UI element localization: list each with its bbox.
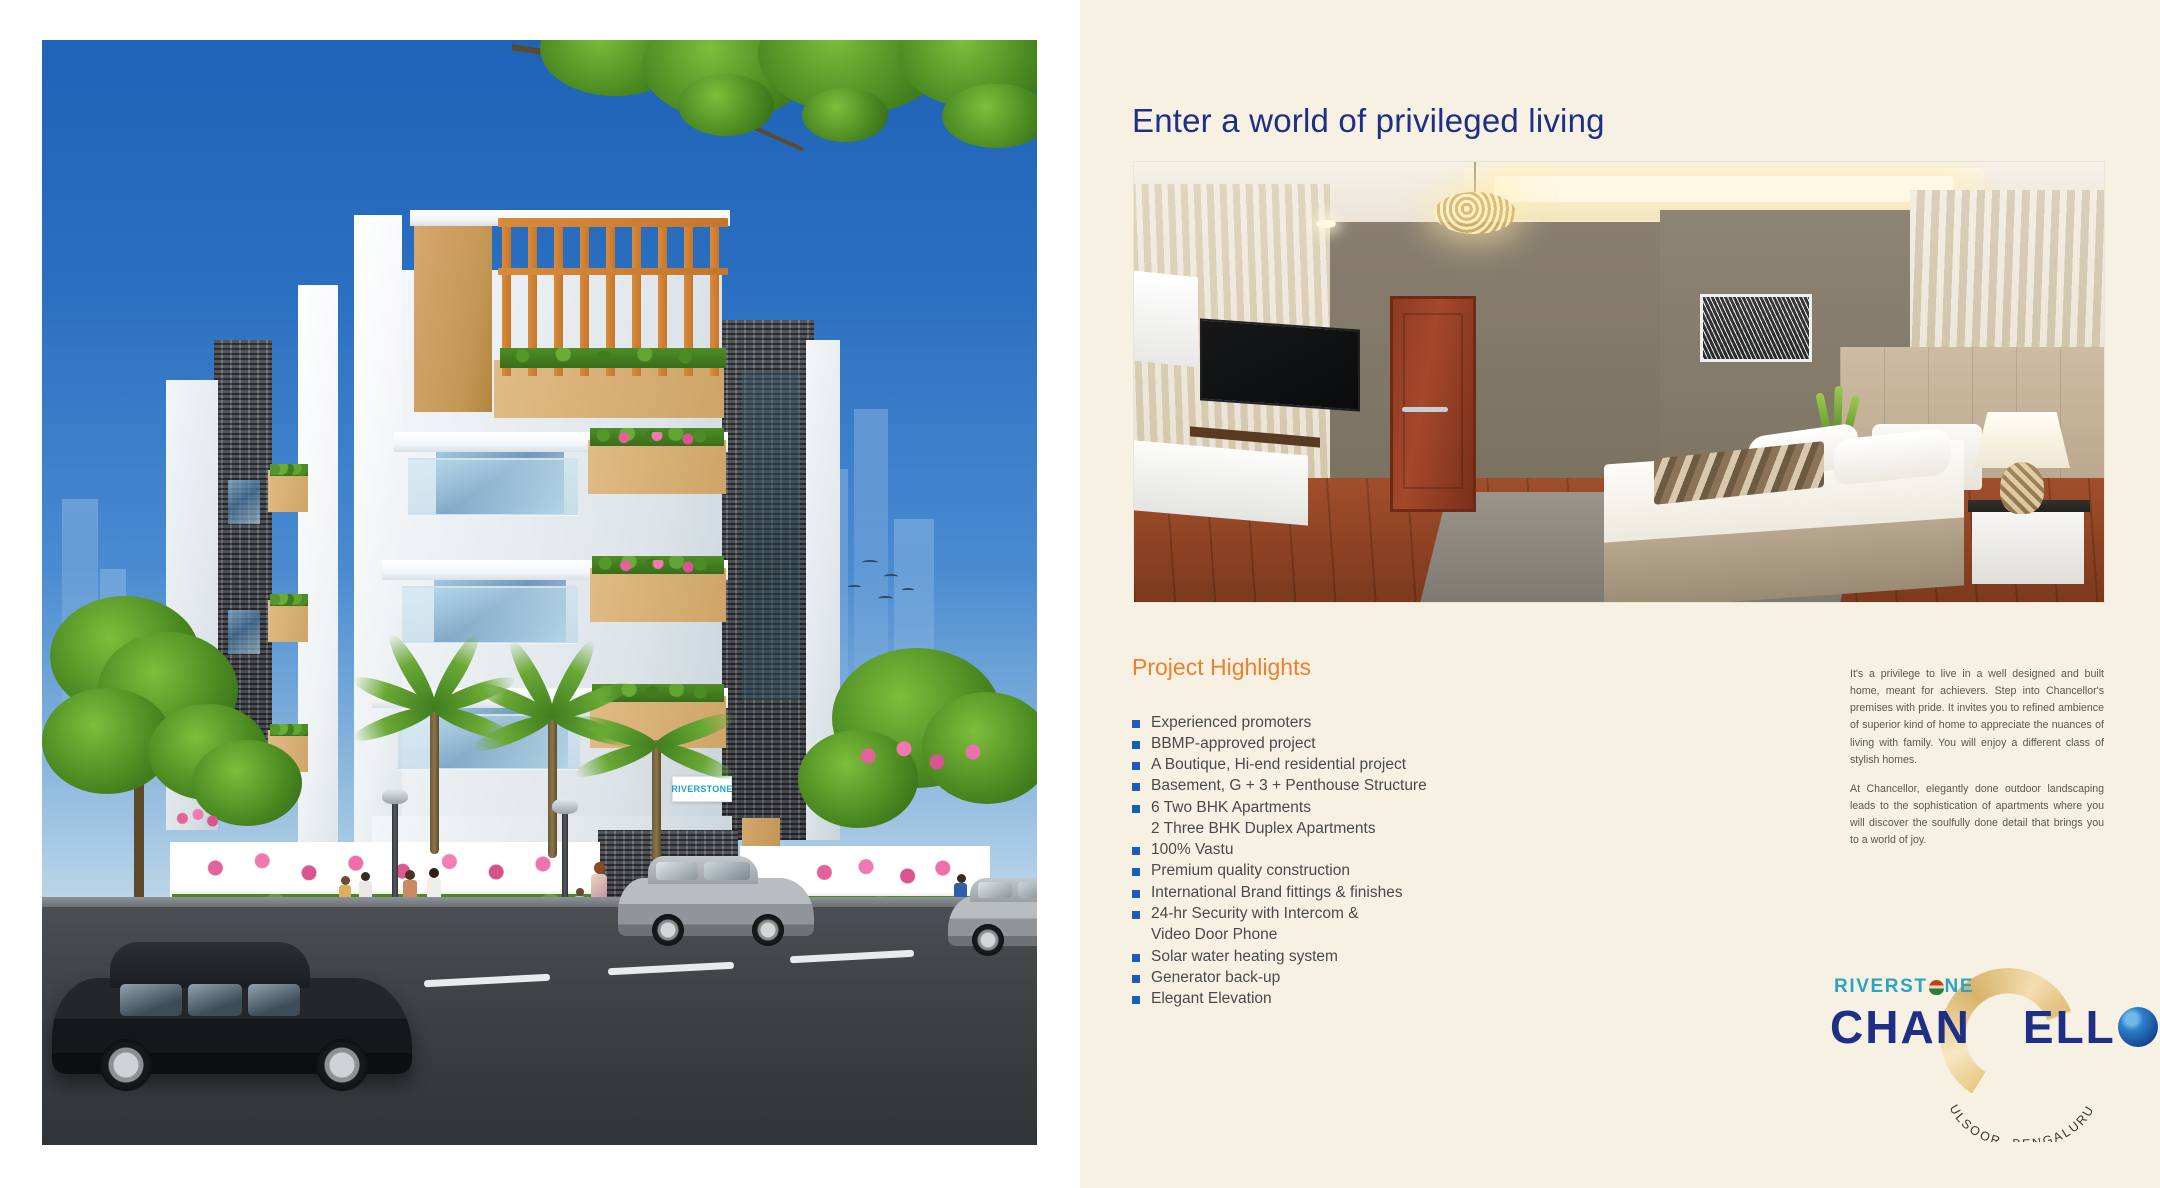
wall-cabinet bbox=[1134, 271, 1198, 368]
interior-bedroom-photo bbox=[1134, 162, 2104, 602]
pendant-cord bbox=[1474, 162, 1476, 194]
list-item: 24-hr Security with Intercom & bbox=[1132, 904, 1602, 925]
television bbox=[1200, 318, 1360, 411]
recessed-downlight bbox=[1316, 220, 1336, 228]
balcony-planter-band bbox=[590, 568, 726, 622]
balcony-flowers bbox=[604, 560, 712, 574]
building-signage: RIVERSTONE bbox=[672, 776, 732, 802]
side-band bbox=[268, 470, 308, 512]
palm-crown bbox=[656, 736, 658, 738]
exterior-render-image: RIVERSTONE bbox=[42, 40, 1037, 1145]
terrace-planting bbox=[500, 348, 726, 368]
chancellor-part-2: ELL bbox=[2023, 1000, 2116, 1054]
bird-icon bbox=[848, 585, 861, 589]
list-item-label: Generator back-up bbox=[1151, 969, 1280, 987]
side-band bbox=[268, 600, 308, 642]
list-item-label: 6 Two BHK Apartments bbox=[1151, 799, 1311, 817]
list-item-continuation: 2 Three BHK Duplex Apartments bbox=[1132, 818, 1602, 839]
wooden-door bbox=[1390, 296, 1476, 512]
blue-sphere-o-icon bbox=[2118, 1007, 2158, 1047]
copy-paragraph-1: It's a privilege to live in a well desig… bbox=[1850, 666, 2104, 769]
list-item-label: BBMP-approved project bbox=[1151, 735, 1316, 753]
list-item-label: A Boutique, Hi-end residential project bbox=[1151, 756, 1406, 774]
list-item: 100% Vastu bbox=[1132, 840, 1602, 861]
list-item-label: 100% Vastu bbox=[1151, 841, 1233, 859]
stone-icon bbox=[1929, 980, 1944, 995]
riverstone-wordmark: RIVERST NE bbox=[1834, 976, 1974, 998]
bullet-square bbox=[1132, 911, 1140, 919]
side-window bbox=[228, 480, 260, 524]
body-copy: It's a privilege to live in a well desig… bbox=[1850, 666, 2104, 862]
riverstone-text-rest: NE bbox=[1945, 976, 1975, 998]
tree-flowers bbox=[850, 740, 1000, 780]
table-lamp-base bbox=[2000, 462, 2044, 514]
bullet-placeholder bbox=[1132, 826, 1140, 834]
list-item-label: International Brand fittings & finishes bbox=[1151, 884, 1403, 902]
page-headline: Enter a world of privileged living bbox=[1132, 102, 1605, 140]
bird-icon bbox=[862, 560, 878, 565]
lane-marking bbox=[424, 974, 550, 988]
side-planting bbox=[270, 464, 308, 476]
tree-canopy bbox=[678, 74, 774, 136]
tree-canopy bbox=[942, 84, 1037, 148]
tree-flowers bbox=[172, 808, 224, 834]
palm-trunk bbox=[652, 740, 661, 862]
bullet-square bbox=[1132, 783, 1140, 791]
side-window bbox=[228, 610, 260, 654]
street-lamp-head bbox=[552, 798, 578, 814]
list-item: A Boutique, Hi-end residential project bbox=[1132, 755, 1602, 776]
list-item: Experienced promoters bbox=[1132, 712, 1602, 733]
bullet-square bbox=[1132, 741, 1140, 749]
table-lamp-shade bbox=[1974, 412, 2070, 468]
ceiling-cove-light bbox=[1494, 176, 1954, 202]
palm-crown bbox=[552, 708, 554, 710]
bullet-placeholder bbox=[1132, 932, 1140, 940]
nightstand bbox=[1972, 510, 2084, 584]
list-item-label: 24-hr Security with Intercom & bbox=[1151, 905, 1359, 923]
brand-logo: RIVERST NE CHAN ELL R ULSOOR, BENGALURU bbox=[1822, 966, 2112, 1136]
list-item-label: 2 Three BHK Duplex Apartments bbox=[1151, 820, 1376, 838]
bird-icon bbox=[902, 588, 914, 592]
list-item-label: Experienced promoters bbox=[1151, 714, 1311, 732]
wall-artwork bbox=[1700, 294, 1812, 362]
bird-icon bbox=[878, 596, 893, 601]
list-item: Basement, G + 3 + Penthouse Structure bbox=[1132, 776, 1602, 797]
compound-wall-flowers bbox=[192, 852, 582, 892]
side-planting bbox=[270, 594, 308, 606]
logo-location-curved: ULSOOR, BENGALURU bbox=[1942, 1086, 2092, 1134]
highlights-list: Experienced promoters BBMP-approved proj… bbox=[1132, 712, 1602, 1010]
list-item-label: Basement, G + 3 + Penthouse Structure bbox=[1151, 777, 1427, 795]
left-brochure-page: RIVERSTONE bbox=[0, 0, 1080, 1188]
side-planting bbox=[270, 724, 308, 736]
foreground-car-black bbox=[52, 978, 412, 1074]
bird-icon bbox=[884, 574, 898, 579]
street-lamp-head bbox=[382, 788, 408, 804]
bullet-square bbox=[1132, 954, 1140, 962]
parked-car-silver bbox=[618, 878, 814, 936]
list-item: Solar water heating system bbox=[1132, 946, 1602, 967]
list-item: BBMP-approved project bbox=[1132, 733, 1602, 754]
penthouse-wall bbox=[414, 222, 492, 412]
balcony-planter-band bbox=[588, 440, 726, 494]
highlights-title: Project Highlights bbox=[1132, 654, 1311, 681]
copy-paragraph-2: At Chancellor, elegantly done outdoor la… bbox=[1850, 781, 2104, 850]
chancellor-part-1: CHAN bbox=[1830, 1000, 1971, 1054]
door-handle bbox=[1402, 407, 1448, 412]
balcony-railing bbox=[402, 586, 578, 644]
logo-location-text: ULSOOR, BENGALURU bbox=[1947, 1102, 2098, 1142]
compound-wall-flowers bbox=[802, 858, 962, 894]
list-item: Elegant Elevation bbox=[1132, 989, 1602, 1010]
bullet-square bbox=[1132, 847, 1140, 855]
bullet-square bbox=[1132, 805, 1140, 813]
tree-canopy bbox=[802, 88, 888, 142]
pendant-chandelier bbox=[1434, 192, 1516, 234]
palm-trunk bbox=[548, 712, 557, 858]
list-item: 6 Two BHK Apartments bbox=[1132, 797, 1602, 818]
list-item: Premium quality construction bbox=[1132, 861, 1602, 882]
list-item-label: Elegant Elevation bbox=[1151, 990, 1272, 1008]
building-center-fin bbox=[354, 215, 402, 855]
chancellor-wordmark: CHAN ELL R bbox=[1830, 1000, 2160, 1054]
list-item-label: Video Door Phone bbox=[1151, 926, 1277, 944]
balcony-flowers bbox=[602, 432, 712, 446]
palm-crown bbox=[434, 700, 436, 702]
list-item: Generator back-up bbox=[1132, 967, 1602, 988]
bullet-square bbox=[1132, 868, 1140, 876]
bullet-square bbox=[1132, 890, 1140, 898]
building-stair-glazing bbox=[742, 370, 800, 700]
list-item-continuation: Video Door Phone bbox=[1132, 925, 1602, 946]
bullet-square bbox=[1132, 996, 1140, 1004]
riverstone-text-first: RIVERST bbox=[1834, 976, 1928, 998]
list-item-label: Premium quality construction bbox=[1151, 862, 1350, 880]
lane-marking bbox=[608, 962, 734, 976]
list-item: International Brand fittings & finishes bbox=[1132, 882, 1602, 903]
bullet-square bbox=[1132, 720, 1140, 728]
list-item-label: Solar water heating system bbox=[1151, 948, 1338, 966]
bullet-square bbox=[1132, 762, 1140, 770]
right-brochure-page: Enter a world of privileged living bbox=[1080, 0, 2160, 1188]
palm-trunk bbox=[430, 704, 439, 854]
lane-marking bbox=[790, 950, 914, 963]
bullet-square bbox=[1132, 975, 1140, 983]
parked-car-right bbox=[948, 896, 1037, 946]
balcony-railing bbox=[408, 458, 578, 516]
